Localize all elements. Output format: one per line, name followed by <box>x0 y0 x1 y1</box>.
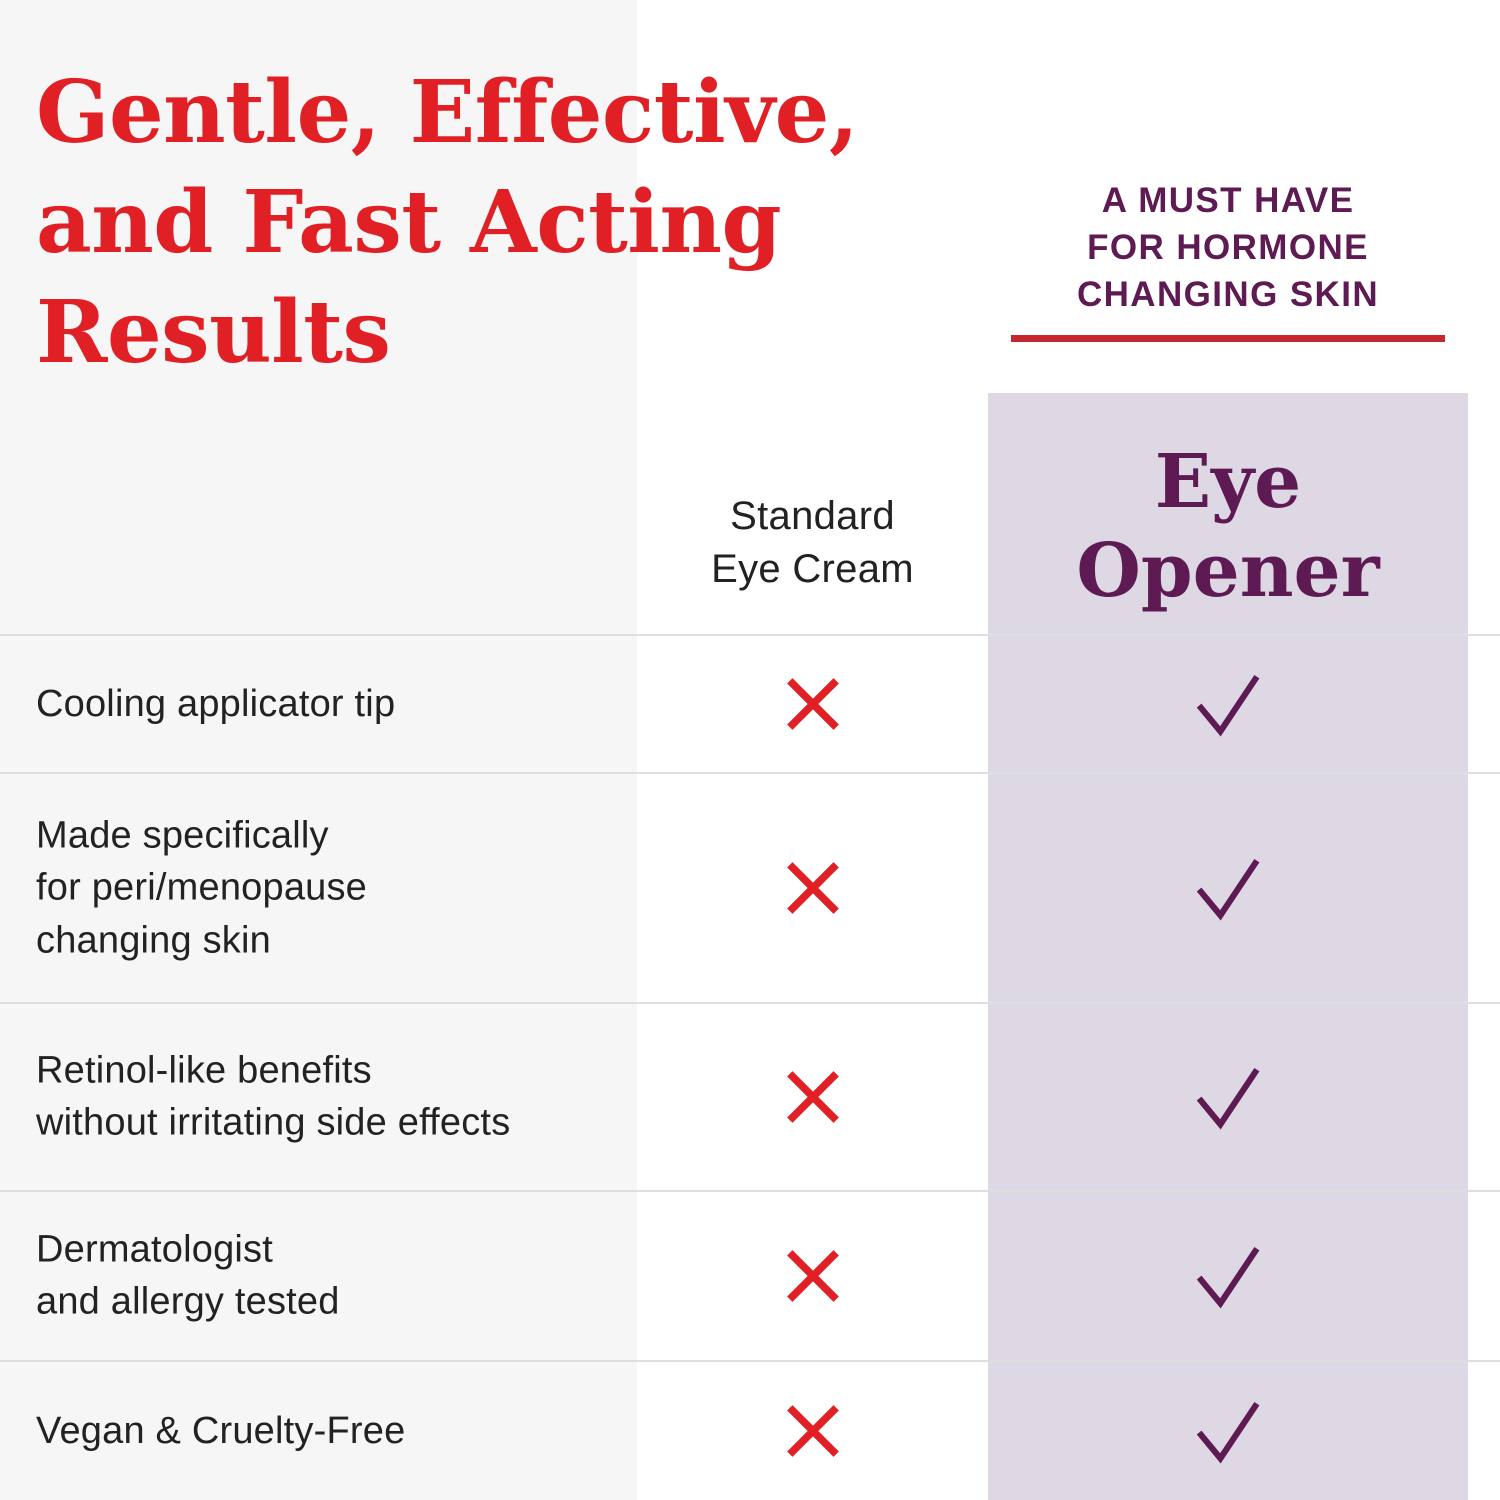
table-row-1: Cooling applicator tip <box>0 634 1500 772</box>
column-header-eye-opener: Eye Opener <box>988 438 1468 616</box>
must-have-badge: A MUST HAVE FOR HORMONE CHANGING SKIN <box>988 178 1468 342</box>
cell-eye-opener <box>988 1192 1468 1360</box>
cell-standard-eye-cream <box>637 1192 988 1360</box>
check-mark-icon <box>1190 666 1266 742</box>
feature-label-2: Made specifically for peri/menopause cha… <box>36 809 626 966</box>
x-mark-icon <box>784 1402 842 1460</box>
cell-eye-opener <box>988 774 1468 1002</box>
check-mark-icon <box>1190 1059 1266 1135</box>
cell-eye-opener <box>988 1362 1468 1500</box>
feature-label-3: Retinol-like benefits without irritating… <box>36 1045 626 1150</box>
column-header-standard-eye-cream: Standard Eye Cream <box>637 490 988 596</box>
x-mark-icon <box>784 1247 842 1305</box>
table-row-4: Dermatologist and allergy tested <box>0 1190 1500 1360</box>
x-mark-icon <box>784 675 842 733</box>
cell-standard-eye-cream <box>637 1362 988 1500</box>
cell-standard-eye-cream <box>637 636 988 772</box>
comparison-table: Cooling applicator tip Made specifically… <box>0 634 1500 1500</box>
badge-label: A MUST HAVE FOR HORMONE CHANGING SKIN <box>988 178 1468 319</box>
cell-eye-opener <box>988 636 1468 772</box>
table-row-3: Retinol-like benefits without irritating… <box>0 1002 1500 1190</box>
check-mark-icon <box>1190 1393 1266 1469</box>
check-mark-icon <box>1190 1238 1266 1314</box>
feature-label-4: Dermatologist and allergy tested <box>36 1224 626 1329</box>
cell-standard-eye-cream <box>637 774 988 1002</box>
check-mark-icon <box>1190 850 1266 926</box>
x-mark-icon <box>784 859 842 917</box>
page-title: Gentle, Effective, and Fast Acting Resul… <box>36 58 936 388</box>
table-row-2: Made specifically for peri/menopause cha… <box>0 772 1500 1002</box>
table-row-5: Vegan & Cruelty-Free <box>0 1360 1500 1500</box>
cell-eye-opener <box>988 1004 1468 1190</box>
cell-standard-eye-cream <box>637 1004 988 1190</box>
badge-underline-rule <box>1011 335 1445 342</box>
x-mark-icon <box>784 1068 842 1126</box>
comparison-chart-page: Gentle, Effective, and Fast Acting Resul… <box>0 0 1500 1500</box>
feature-label-5: Vegan & Cruelty-Free <box>36 1405 626 1457</box>
feature-label-1: Cooling applicator tip <box>36 678 626 730</box>
